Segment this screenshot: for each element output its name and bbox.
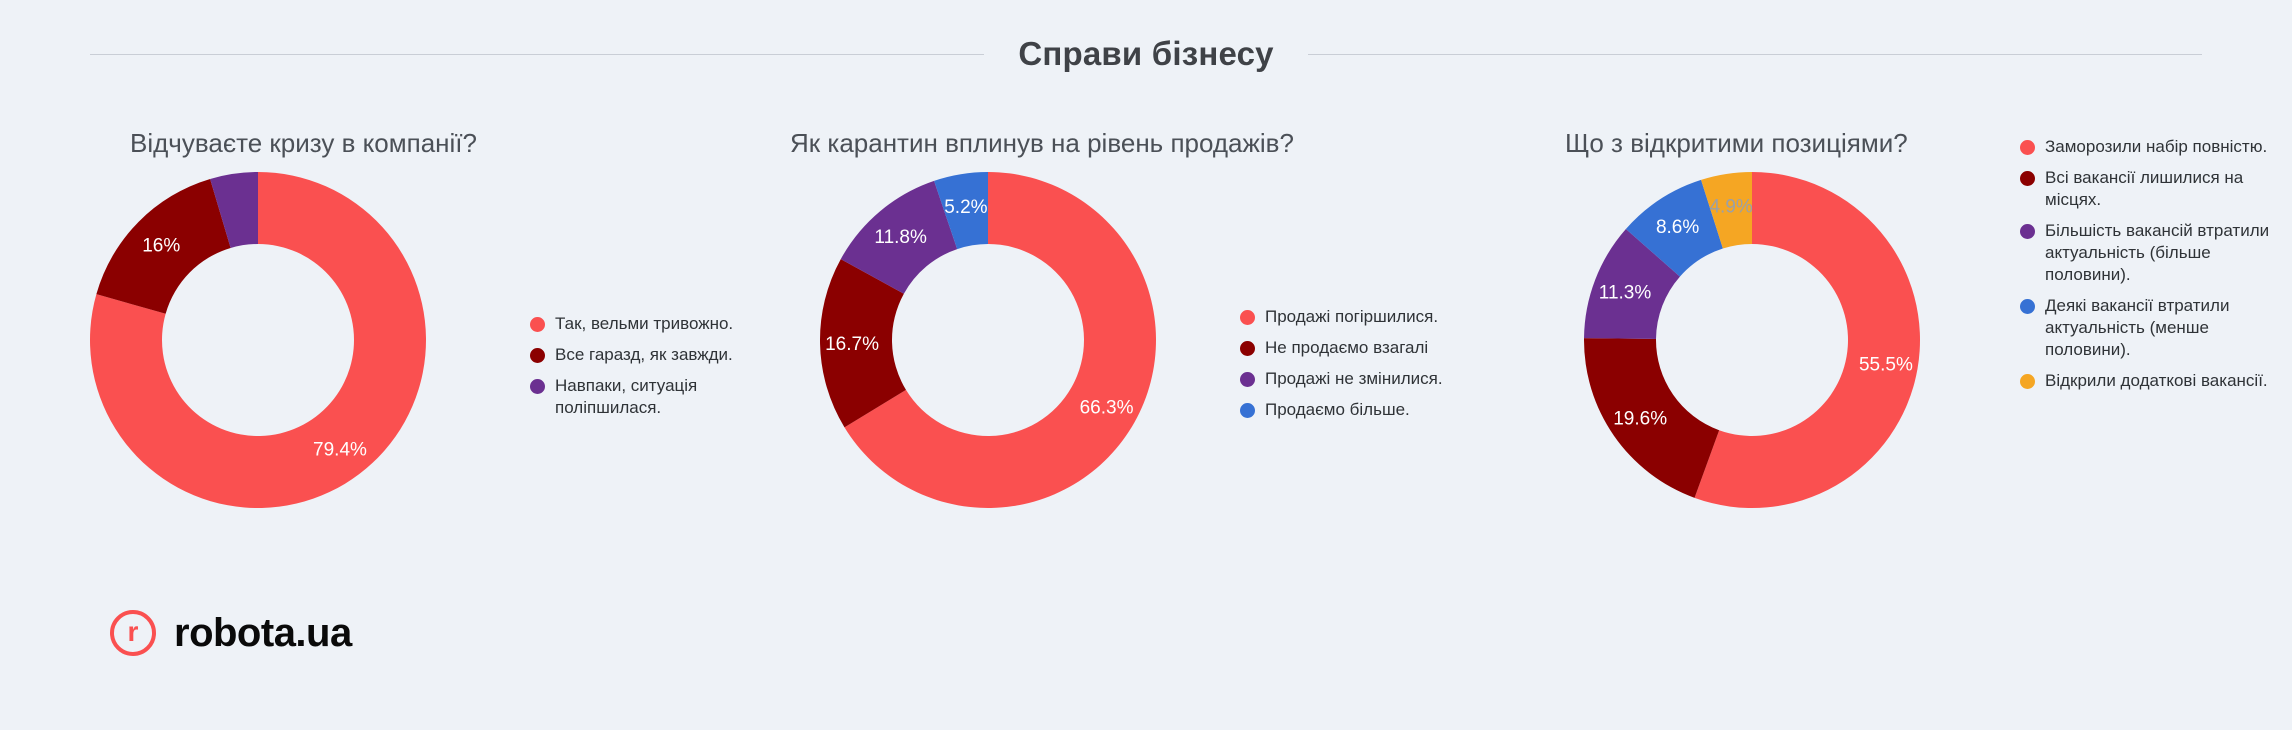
slice-value-label: 79.4%: [313, 440, 367, 461]
legend-label: Продажі не змінилися.: [1265, 368, 1443, 390]
robota-logo-icon: r: [110, 610, 156, 656]
legend-label: Всі вакансії лишилися на місцях.: [2045, 167, 2290, 211]
legend-item[interactable]: Відкрили додаткові вакансії.: [2020, 370, 2290, 392]
legend-item[interactable]: Більшість вакансій втратили актуальність…: [2020, 220, 2290, 286]
slice-value-label: 19.6%: [1613, 408, 1667, 429]
legend-item[interactable]: Все гаразд, як завжди.: [530, 344, 760, 366]
legend-color-swatch: [2020, 374, 2035, 389]
legend-item[interactable]: Продажі погіршилися.: [1240, 306, 1490, 328]
legend-color-swatch: [2020, 171, 2035, 186]
header-rule-left: [90, 54, 984, 55]
slice-value-label: 4.9%: [1709, 197, 1752, 218]
robota-logo[interactable]: r robota.ua: [110, 610, 352, 656]
slice-value-label: 11.8%: [874, 227, 927, 248]
slice-value-label: 16.7%: [825, 334, 879, 355]
legend-label: Заморозили набір повністю.: [2045, 136, 2267, 158]
chart-panel-1: Відчуваєте кризу в компанії? 79.4%16% Та…: [0, 108, 760, 578]
legend-color-swatch: [1240, 310, 1255, 325]
slice-value-label: 66.3%: [1080, 398, 1134, 419]
donut-chart-3: 55.5%19.6%11.3%8.6%4.9%: [1582, 170, 1922, 510]
chart-panel-3: Що з відкритими позиціями? 55.5%19.6%11.…: [1520, 108, 2292, 578]
legend-label: Відкрили додаткові вакансії.: [2045, 370, 2268, 392]
legend-label: Продаємо більше.: [1265, 399, 1410, 421]
chart-title-2: Як карантин вплинув на рівень продажів?: [790, 128, 1294, 159]
slice-value-label: 11.3%: [1599, 282, 1652, 303]
donut-svg-3: 55.5%19.6%11.3%8.6%4.9%: [1582, 170, 1922, 510]
donut-svg-2: 66.3%16.7%11.8%5.2%: [818, 170, 1158, 510]
legend-color-swatch: [1240, 341, 1255, 356]
slice-value-label: 8.6%: [1656, 217, 1699, 238]
legend-color-swatch: [1240, 403, 1255, 418]
legend-label: Продажі погіршилися.: [1265, 306, 1438, 328]
legend-item[interactable]: Продаємо більше.: [1240, 399, 1490, 421]
chart-title-1: Відчуваєте кризу в компанії?: [130, 128, 477, 159]
legend-label: Так, вельми тривожно.: [555, 313, 733, 335]
legend-item[interactable]: Продажі не змінилися.: [1240, 368, 1490, 390]
legend-color-swatch: [2020, 140, 2035, 155]
chart-panel-2: Як карантин вплинув на рівень продажів? …: [760, 108, 1520, 578]
legend-label: Навпаки, ситуація поліпшилася.: [555, 375, 760, 419]
legend-color-swatch: [1240, 372, 1255, 387]
legend-color-swatch: [530, 348, 545, 363]
slice-value-label: 16%: [142, 235, 180, 256]
charts-container: Відчуваєте кризу в компанії? 79.4%16% Та…: [0, 108, 2292, 578]
header-rule-right: [1308, 54, 2202, 55]
legend-label: Деякі вакансії втратили актуальність (ме…: [2045, 295, 2290, 361]
legend-color-swatch: [530, 379, 545, 394]
legend-item[interactable]: Так, вельми тривожно.: [530, 313, 760, 335]
legend-item[interactable]: Деякі вакансії втратили актуальність (ме…: [2020, 295, 2290, 361]
chart-legend-3: Заморозили набір повністю. Всі вакансії …: [2020, 136, 2290, 401]
robota-logo-text: robota.ua: [174, 611, 352, 656]
legend-item[interactable]: Заморозили набір повністю.: [2020, 136, 2290, 158]
page-header: Справи бізнесу: [0, 0, 2292, 108]
chart-legend-1: Так, вельми тривожно. Все гаразд, як зав…: [530, 313, 760, 428]
page-title: Справи бізнесу: [1018, 35, 1273, 73]
legend-item[interactable]: Навпаки, ситуація поліпшилася.: [530, 375, 760, 419]
legend-item[interactable]: Всі вакансії лишилися на місцях.: [2020, 167, 2290, 211]
legend-label: Не продаємо взагалі: [1265, 337, 1428, 359]
donut-chart-1: 79.4%16%: [88, 170, 428, 510]
legend-label: Більшість вакансій втратили актуальність…: [2045, 220, 2290, 286]
chart-title-3: Що з відкритими позиціями?: [1565, 128, 1908, 159]
slice-value-label: 5.2%: [944, 197, 987, 218]
legend-color-swatch: [2020, 224, 2035, 239]
legend-color-swatch: [530, 317, 545, 332]
legend-color-swatch: [2020, 299, 2035, 314]
donut-svg-1: 79.4%16%: [88, 170, 428, 510]
donut-chart-2: 66.3%16.7%11.8%5.2%: [818, 170, 1158, 510]
legend-item[interactable]: Не продаємо взагалі: [1240, 337, 1490, 359]
legend-label: Все гаразд, як завжди.: [555, 344, 733, 366]
slice-value-label: 55.5%: [1859, 355, 1913, 376]
chart-legend-2: Продажі погіршилися. Не продаємо взагалі…: [1240, 306, 1490, 430]
